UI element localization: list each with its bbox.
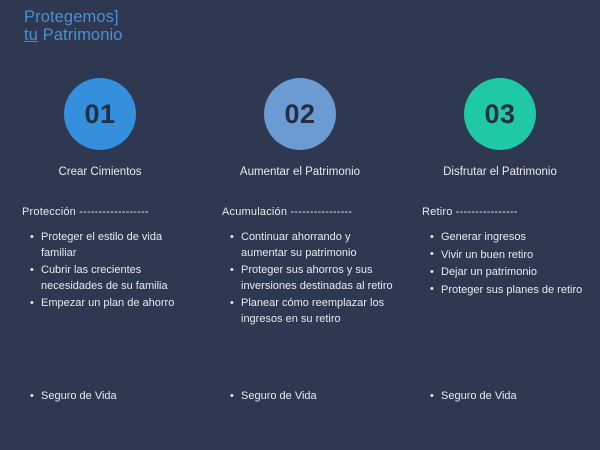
list-item: Continuar ahorrando y aumentar su patrim…	[230, 230, 394, 261]
logo-word-patrimonio: Patrimonio	[38, 26, 123, 44]
stage-footer-item-2: Seguro de Vida	[200, 389, 317, 405]
stage-column-1: 01 Crear Cimientos Protección ----------…	[0, 78, 200, 438]
stages-container: 01 Crear Cimientos Protección ----------…	[0, 78, 600, 438]
list-item: Dejar un patrimonio	[430, 265, 594, 281]
stage-column-2: 02 Aumentar el Patrimonio Acumulación --…	[200, 78, 400, 438]
stage-section-header-2: Acumulación ----------------	[200, 206, 352, 218]
stage-body-3: Retiro ---------------- Generar ingresos…	[400, 178, 600, 438]
brand-logo: Protegemos] tu Patrimonio	[24, 8, 123, 45]
stage-body-2: Acumulación ---------------- Continuar a…	[200, 178, 400, 438]
stage-footer-item-3: Seguro de Vida	[400, 389, 517, 405]
logo-line-2: tu Patrimonio	[24, 26, 123, 44]
stage-section-header-1: Protección ------------------	[0, 206, 149, 218]
list-item: Vivir un buen retiro	[430, 248, 594, 264]
logo-word-tu: tu	[24, 26, 38, 44]
list-item: Empezar un plan de ahorro	[30, 296, 194, 312]
stage-section-header-3: Retiro ----------------	[400, 206, 518, 218]
logo-line-1: Protegemos]	[24, 8, 123, 26]
stage-title-3: Disfrutar el Patrimonio	[443, 166, 557, 178]
stage-footer-item-1: Seguro de Vida	[0, 389, 117, 405]
list-item: Cubrir las crecientes necesidades de su …	[30, 263, 194, 294]
list-item: Proteger sus planes de retiro	[430, 283, 594, 299]
stage-title-1: Crear Cimientos	[58, 166, 141, 178]
list-item: Planear cómo reemplazar los ingresos en …	[230, 296, 394, 327]
stage-column-3: 03 Disfrutar el Patrimonio Retiro ------…	[400, 78, 600, 438]
stage-body-1: Protección ------------------ Proteger e…	[0, 178, 200, 438]
list-item: Proteger sus ahorros y sus inversiones d…	[230, 263, 394, 294]
stage-bullet-list-3: Generar ingresos Vivir un buen retiro De…	[400, 230, 600, 300]
list-item: Generar ingresos	[430, 230, 594, 246]
stage-bullet-list-2: Continuar ahorrando y aumentar su patrim…	[200, 230, 400, 330]
stage-bullet-list-1: Proteger el estilo de vida familiar Cubr…	[0, 230, 200, 314]
stage-number-badge-3: 03	[464, 78, 536, 150]
list-item: Proteger el estilo de vida familiar	[30, 230, 194, 261]
stage-number-badge-2: 02	[264, 78, 336, 150]
stage-title-2: Aumentar el Patrimonio	[240, 166, 360, 178]
stage-number-badge-1: 01	[64, 78, 136, 150]
